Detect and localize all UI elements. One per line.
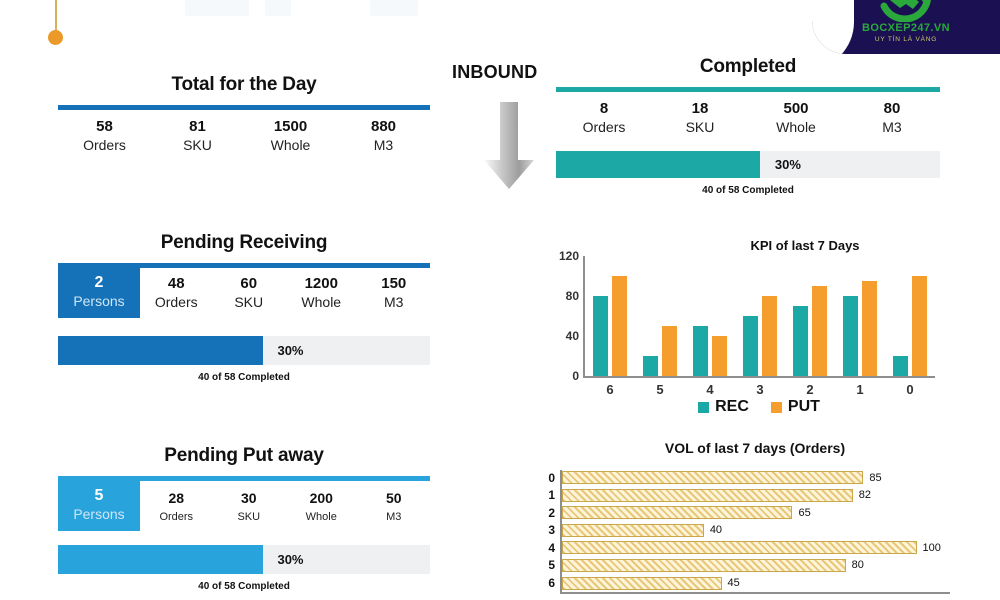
x-tick-4: 4 bbox=[685, 382, 735, 397]
metric-sku: 81 SKU bbox=[151, 117, 244, 155]
handshake-circle-icon bbox=[876, 0, 934, 22]
vol-row-2: 265 bbox=[562, 505, 970, 520]
progress-fill bbox=[58, 545, 263, 574]
metric-row: 5 Persons 28 Orders 30 SKU 200 Whole 50 … bbox=[58, 481, 430, 531]
x-tick-1: 1 bbox=[835, 382, 885, 397]
legend-swatch-rec bbox=[698, 402, 709, 413]
metric-label: Whole bbox=[285, 293, 358, 312]
metric-value: 880 bbox=[337, 117, 430, 136]
chart-kpi-last-7-days: KPI of last 7 Days 120 80 40 0 6543210 R… bbox=[545, 238, 955, 428]
bar-put-3 bbox=[762, 296, 777, 376]
progress-fill bbox=[556, 151, 760, 178]
metric-label: Orders bbox=[140, 508, 213, 527]
metric-sku: 30 SKU bbox=[213, 481, 286, 531]
metric-label: Whole bbox=[244, 136, 337, 155]
persons-label: Persons bbox=[58, 292, 140, 311]
metric-orders: 8 Orders bbox=[556, 99, 652, 137]
bar-group-2: 2 bbox=[785, 256, 835, 376]
persons-badge: 5 Persons bbox=[58, 481, 140, 531]
vol-value-5: 80 bbox=[852, 559, 864, 571]
x-tick-2: 2 bbox=[785, 382, 835, 397]
bar-group-3: 3 bbox=[735, 256, 785, 376]
metric-value: 48 bbox=[140, 274, 213, 293]
metric-label: Orders bbox=[58, 136, 151, 155]
vol-bar-6 bbox=[562, 577, 722, 590]
metric-value: 30 bbox=[213, 489, 286, 508]
panel-title: Completed bbox=[556, 56, 940, 78]
metric-sku: 60 SKU bbox=[213, 268, 286, 318]
chart-plot-area: 120 80 40 0 6543210 bbox=[583, 256, 935, 378]
metric-label: SKU bbox=[213, 293, 286, 312]
metric-m3: 80 M3 bbox=[844, 99, 940, 137]
metric-value: 60 bbox=[213, 274, 286, 293]
y-tick-80: 80 bbox=[566, 289, 579, 303]
progress-caption: 40 of 58 Completed bbox=[58, 581, 430, 592]
metric-value: 58 bbox=[58, 117, 151, 136]
x-tick-6: 6 bbox=[585, 382, 635, 397]
vol-bar-4 bbox=[562, 541, 917, 554]
vol-value-3: 40 bbox=[710, 524, 722, 536]
vol-value-6: 45 bbox=[728, 577, 740, 589]
y-tick-40: 40 bbox=[566, 329, 579, 343]
ghost-header-1 bbox=[185, 0, 249, 16]
metric-m3: 50 M3 bbox=[358, 481, 431, 531]
vol-category-3: 3 bbox=[548, 523, 555, 537]
metric-label: Orders bbox=[140, 293, 213, 312]
metric-whole: 1500 Whole bbox=[244, 117, 337, 155]
persons-label: Persons bbox=[58, 505, 140, 524]
metric-label: M3 bbox=[358, 293, 431, 312]
bar-rec-5 bbox=[643, 356, 658, 376]
progress-caption: 40 of 58 Completed bbox=[556, 185, 940, 196]
progress-bar: 30% bbox=[556, 151, 940, 178]
panel-completed: Completed 8 Orders 18 SKU 500 Whole 80 M… bbox=[556, 56, 940, 196]
dashboard-canvas: BOCXEP247.VN UY TÍN LÀ VÀNG Total for th… bbox=[0, 0, 1000, 600]
vol-value-0: 85 bbox=[869, 472, 881, 484]
metric-whole: 200 Whole bbox=[285, 481, 358, 531]
metric-sku: 18 SKU bbox=[652, 99, 748, 137]
persons-value: 2 bbox=[58, 273, 140, 292]
x-tick-5: 5 bbox=[635, 382, 685, 397]
x-tick-3: 3 bbox=[735, 382, 785, 397]
chart-title: VOL of last 7 days (Orders) bbox=[540, 440, 970, 456]
company-logo: BOCXEP247.VN UY TÍN LÀ VÀNG bbox=[812, 0, 1000, 54]
panel-accent-rule bbox=[58, 105, 430, 110]
panel-title: Pending Put away bbox=[58, 445, 430, 467]
bar-put-0 bbox=[912, 276, 927, 376]
bar-group-4: 4 bbox=[685, 256, 735, 376]
metric-value: 81 bbox=[151, 117, 244, 136]
bar-rec-6 bbox=[593, 296, 608, 376]
vol-row-6: 645 bbox=[562, 576, 970, 591]
metric-value: 18 bbox=[652, 99, 748, 118]
metric-value: 1500 bbox=[244, 117, 337, 136]
vol-value-2: 65 bbox=[798, 507, 810, 519]
panel-title: Total for the Day bbox=[58, 74, 430, 96]
progress-bar: 30% bbox=[58, 545, 430, 574]
logo-tagline: UY TÍN LÀ VÀNG bbox=[812, 36, 1000, 43]
panel-total-for-the-day: Total for the Day 58 Orders 81 SKU 1500 … bbox=[58, 74, 430, 155]
bar-rec-4 bbox=[693, 326, 708, 376]
metric-label: Whole bbox=[748, 118, 844, 137]
vol-row-0: 085 bbox=[562, 470, 970, 485]
metric-value: 8 bbox=[556, 99, 652, 118]
y-tick-120: 120 bbox=[559, 249, 579, 263]
metric-value: 50 bbox=[358, 489, 431, 508]
vol-bar-3 bbox=[562, 524, 704, 537]
bar-rec-3 bbox=[743, 316, 758, 376]
metric-orders: 28 Orders bbox=[140, 481, 213, 531]
metric-label: Orders bbox=[556, 118, 652, 137]
metric-value: 1200 bbox=[285, 274, 358, 293]
metric-label: M3 bbox=[844, 118, 940, 137]
chart-title: KPI of last 7 Days bbox=[675, 238, 935, 253]
bar-rec-2 bbox=[793, 306, 808, 376]
metric-row: 2 Persons 48 Orders 60 SKU 1200 Whole 15… bbox=[58, 268, 430, 318]
metric-row: 58 Orders 81 SKU 1500 Whole 880 M3 bbox=[58, 117, 430, 155]
chart-vol-last-7-days: VOL of last 7 days (Orders) 085182265340… bbox=[540, 440, 970, 600]
vol-bar-1 bbox=[562, 489, 853, 502]
bar-group-6: 6 bbox=[585, 256, 635, 376]
metric-m3: 880 M3 bbox=[337, 117, 430, 155]
metric-value: 28 bbox=[140, 489, 213, 508]
bar-put-4 bbox=[712, 336, 727, 376]
chart-legend: REC PUT bbox=[583, 398, 935, 416]
x-tick-0: 0 bbox=[885, 382, 935, 397]
bar-group-0: 0 bbox=[885, 256, 935, 376]
vol-category-1: 1 bbox=[548, 488, 555, 502]
vol-value-1: 82 bbox=[859, 489, 871, 501]
metric-value: 200 bbox=[285, 489, 358, 508]
vol-category-5: 5 bbox=[548, 558, 555, 572]
vol-value-4: 100 bbox=[923, 542, 941, 554]
panel-pending-receiving: Pending Receiving 2 Persons 48 Orders 60… bbox=[58, 232, 430, 383]
legend-item-rec: REC bbox=[698, 398, 749, 416]
chart-x-axis bbox=[560, 592, 950, 594]
legend-label-put: PUT bbox=[788, 398, 820, 416]
ghost-header-2 bbox=[265, 0, 291, 16]
ghost-header-3 bbox=[370, 0, 418, 16]
legend-label-rec: REC bbox=[715, 398, 749, 416]
legend-item-put: PUT bbox=[771, 398, 820, 416]
vol-bar-0 bbox=[562, 471, 863, 484]
flow-label-inbound: INBOUND bbox=[452, 62, 537, 83]
persons-badge: 2 Persons bbox=[58, 268, 140, 318]
metric-orders: 48 Orders bbox=[140, 268, 213, 318]
metric-whole: 1200 Whole bbox=[285, 268, 358, 318]
metric-whole: 500 Whole bbox=[748, 99, 844, 137]
bar-rec-0 bbox=[893, 356, 908, 376]
vol-row-5: 580 bbox=[562, 558, 970, 573]
bar-put-5 bbox=[662, 326, 677, 376]
progress-bar: 30% bbox=[58, 336, 430, 365]
vol-category-4: 4 bbox=[548, 541, 555, 555]
metric-value: 150 bbox=[358, 274, 431, 293]
chart-bar-groups: 6543210 bbox=[585, 256, 935, 376]
vol-category-6: 6 bbox=[548, 576, 555, 590]
progress-percent: 30% bbox=[775, 151, 801, 178]
logo-name: BOCXEP247.VN bbox=[812, 22, 1000, 34]
y-tick-0: 0 bbox=[572, 369, 579, 383]
panel-accent-rule bbox=[556, 87, 940, 92]
progress-fill bbox=[58, 336, 263, 365]
metric-orders: 58 Orders bbox=[58, 117, 151, 155]
metric-label: SKU bbox=[151, 136, 244, 155]
vol-bar-5 bbox=[562, 559, 846, 572]
vol-category-0: 0 bbox=[548, 471, 555, 485]
down-arrow-icon bbox=[478, 100, 540, 192]
metric-m3: 150 M3 bbox=[358, 268, 431, 318]
progress-percent: 30% bbox=[277, 545, 303, 574]
bar-group-5: 5 bbox=[635, 256, 685, 376]
vol-row-1: 182 bbox=[562, 488, 970, 503]
metric-row: 8 Orders 18 SKU 500 Whole 80 M3 bbox=[556, 99, 940, 137]
vol-bar-2 bbox=[562, 506, 792, 519]
metric-label: M3 bbox=[337, 136, 430, 155]
accent-dot bbox=[48, 30, 63, 45]
bar-put-1 bbox=[862, 281, 877, 376]
persons-value: 5 bbox=[58, 486, 140, 505]
progress-caption: 40 of 58 Completed bbox=[58, 372, 430, 383]
metric-label: Whole bbox=[285, 508, 358, 527]
legend-swatch-put bbox=[771, 402, 782, 413]
metric-label: M3 bbox=[358, 508, 431, 527]
metric-label: SKU bbox=[213, 508, 286, 527]
bar-put-6 bbox=[612, 276, 627, 376]
bar-put-2 bbox=[812, 286, 827, 376]
vol-row-3: 340 bbox=[562, 523, 970, 538]
panel-title: Pending Receiving bbox=[58, 232, 430, 254]
progress-percent: 30% bbox=[277, 336, 303, 365]
metric-label: SKU bbox=[652, 118, 748, 137]
vol-row-4: 4100 bbox=[562, 540, 970, 555]
metric-value: 500 bbox=[748, 99, 844, 118]
bar-group-1: 1 bbox=[835, 256, 885, 376]
chart-plot-area: 0851822653404100580645 bbox=[560, 470, 970, 592]
bar-rec-1 bbox=[843, 296, 858, 376]
vol-category-2: 2 bbox=[548, 506, 555, 520]
panel-pending-put-away: Pending Put away 5 Persons 28 Orders 30 … bbox=[58, 445, 430, 592]
metric-value: 80 bbox=[844, 99, 940, 118]
